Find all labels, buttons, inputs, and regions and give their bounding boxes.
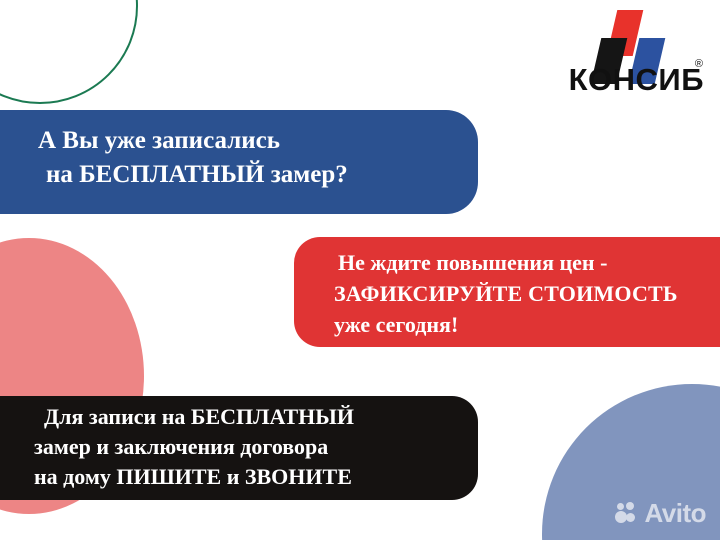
offer-line-2: ЗАФИКСИРУЙТЕ СТОИМОСТЬ	[334, 278, 720, 309]
headline-line-2: на БЕСПЛАТНЫЙ замер?	[46, 158, 478, 192]
contact-line-2: замер и заключения договора	[34, 432, 478, 462]
offer-line-1: Не ждите повышения цен -	[338, 247, 720, 278]
avito-wordmark: Avito	[644, 500, 706, 526]
promo-poster: КОНСИБ ® А Вы уже записались на БЕСПЛАТН…	[0, 0, 720, 540]
headline-line-1: А Вы уже записались	[38, 124, 478, 158]
registered-trademark-icon: ®	[695, 58, 703, 70]
avito-watermark: Avito	[615, 500, 706, 526]
konsib-logo: КОНСИБ ®	[534, 8, 704, 108]
contact-line-3: на дому ПИШИТЕ и ЗВОНИТЕ	[34, 462, 478, 492]
avito-dots-icon	[615, 502, 639, 524]
green-ring-decoration	[0, 0, 138, 104]
contact-banner-black: Для записи на БЕСПЛАТНЫЙ замер и заключе…	[0, 396, 478, 500]
logo-mark-group	[534, 8, 704, 68]
offer-banner-red: Не ждите повышения цен - ЗАФИКСИРУЙТЕ СТ…	[294, 237, 720, 347]
offer-line-3: уже сегодня!	[334, 309, 720, 340]
logo-wordmark: КОНСИБ	[534, 62, 704, 98]
headline-banner-blue: А Вы уже записались на БЕСПЛАТНЫЙ замер?	[0, 110, 478, 214]
contact-line-1: Для записи на БЕСПЛАТНЫЙ	[44, 402, 478, 432]
